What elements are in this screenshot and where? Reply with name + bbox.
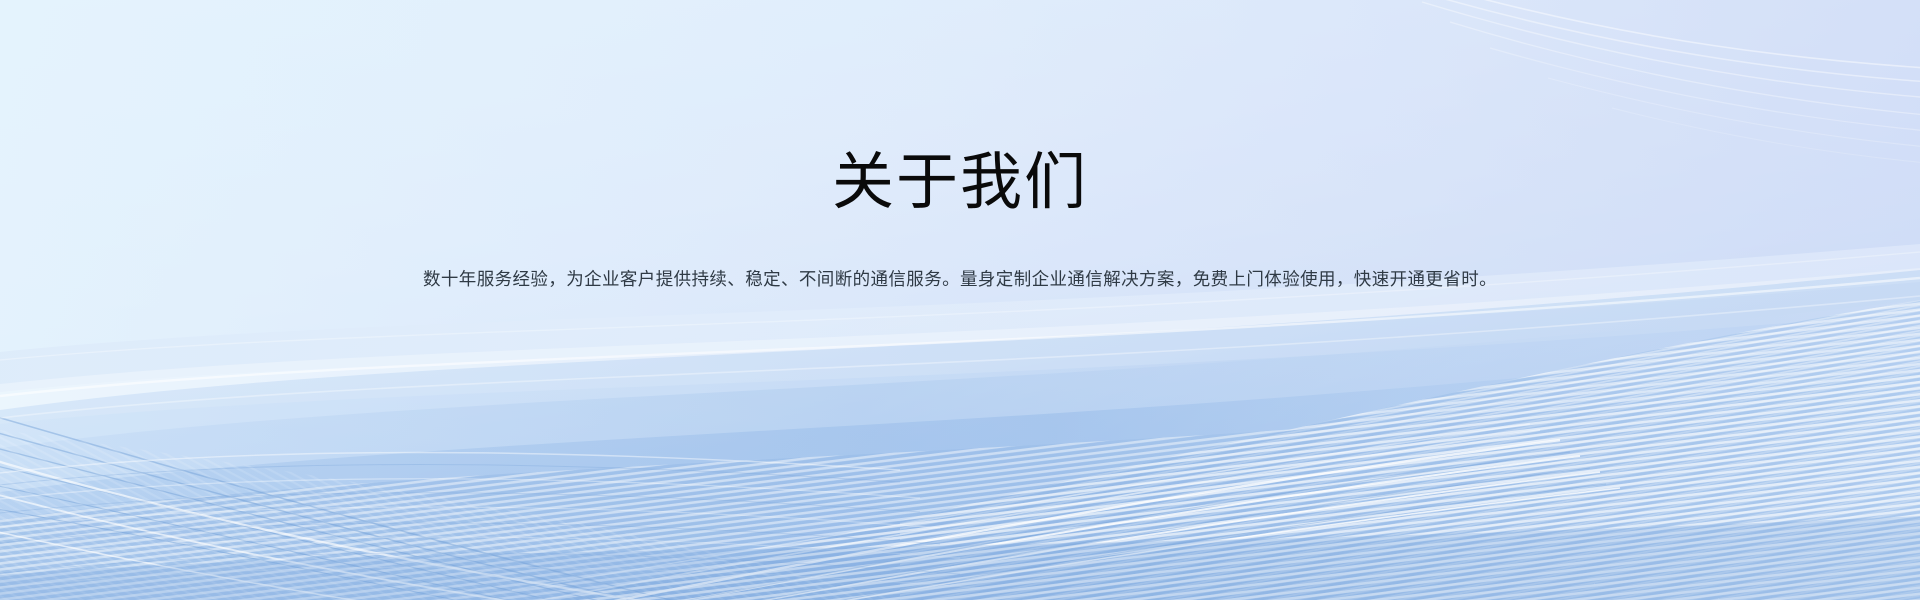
bottom-left-texture — [0, 380, 980, 600]
bottom-edge-fade — [0, 516, 1920, 600]
about-us-banner: 关于我们 数十年服务经验，为企业客户提供持续、稳定、不间断的通信服务。量身定制企… — [0, 0, 1920, 600]
page-subtitle: 数十年服务经验，为企业客户提供持续、稳定、不间断的通信服务。量身定制企业通信解决… — [0, 265, 1920, 295]
left-ripple-lines — [0, 453, 980, 589]
left-ripple-shadow-lines — [0, 465, 960, 575]
page-title: 关于我们 — [0, 150, 1920, 217]
left-crossing-curve-mesh — [0, 412, 1620, 600]
bottom-stripe-band — [0, 372, 1920, 600]
banner-content: 关于我们 数十年服务经验，为企业客户提供持续、稳定、不间断的通信服务。量身定制企… — [0, 0, 1920, 295]
mid-wave-sheet — [0, 270, 1920, 600]
